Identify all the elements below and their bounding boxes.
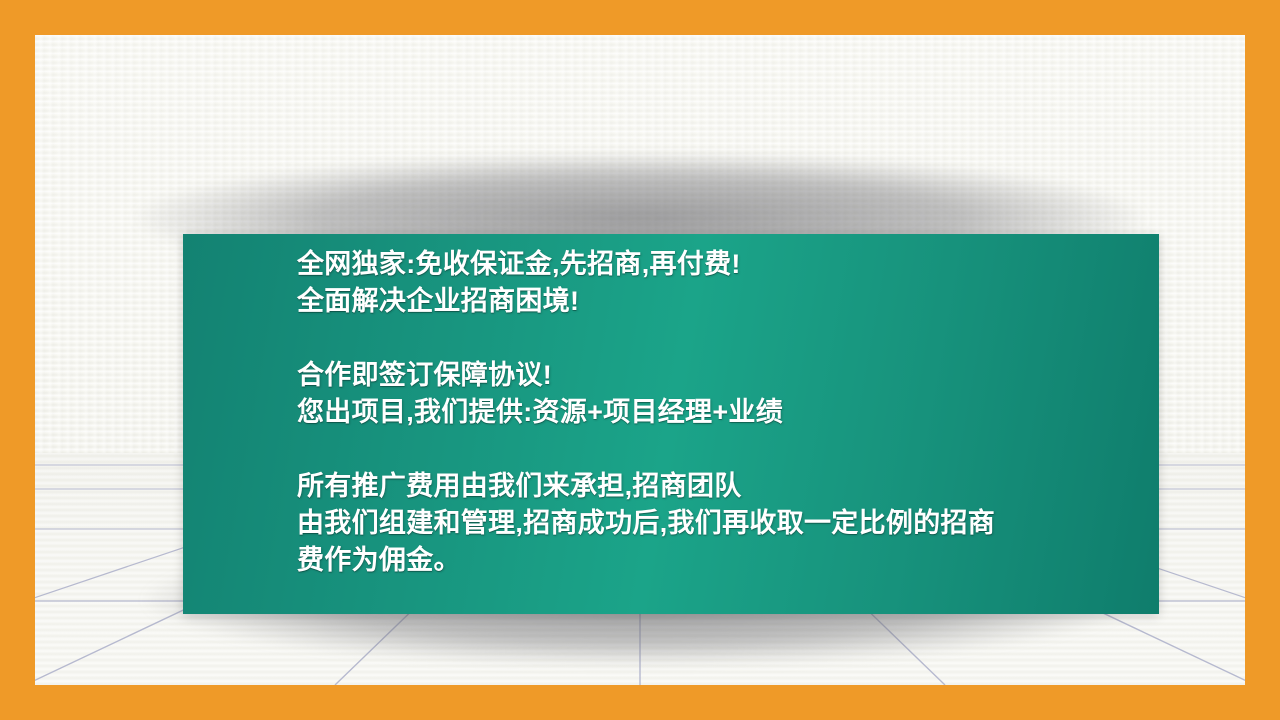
panel-line-8: 由我们组建和管理,招商成功后,我们再收取一定比例的招商 bbox=[297, 505, 1149, 542]
panel-line-4: 合作即签订保障协议! bbox=[297, 357, 1149, 394]
panel-line-spacer-1 bbox=[297, 320, 1149, 357]
panel-line-5: 您出项目,我们提供:资源+项目经理+业绩 bbox=[297, 394, 1149, 431]
panel-line-2: 全面解决企业招商困境! bbox=[297, 283, 1149, 320]
panel-line-9: 费作为佣金。 bbox=[297, 542, 1149, 579]
green-message-panel: 全网独家:免收保证金,先招商,再付费! 全面解决企业招商困境! 合作即签订保障协… bbox=[183, 234, 1159, 614]
poster-canvas: 全网独家:免收保证金,先招商,再付费! 全面解决企业招商困境! 合作即签订保障协… bbox=[0, 0, 1280, 720]
panel-text-block: 全网独家:免收保证金,先招商,再付费! 全面解决企业招商困境! 合作即签订保障协… bbox=[297, 246, 1149, 579]
panel-line-7: 所有推广费用由我们来承担,招商团队 bbox=[297, 468, 1149, 505]
scene-interior: 全网独家:免收保证金,先招商,再付费! 全面解决企业招商困境! 合作即签订保障协… bbox=[35, 35, 1245, 685]
panel-line-1: 全网独家:免收保证金,先招商,再付费! bbox=[297, 246, 1149, 283]
panel-line-spacer-2 bbox=[297, 431, 1149, 468]
